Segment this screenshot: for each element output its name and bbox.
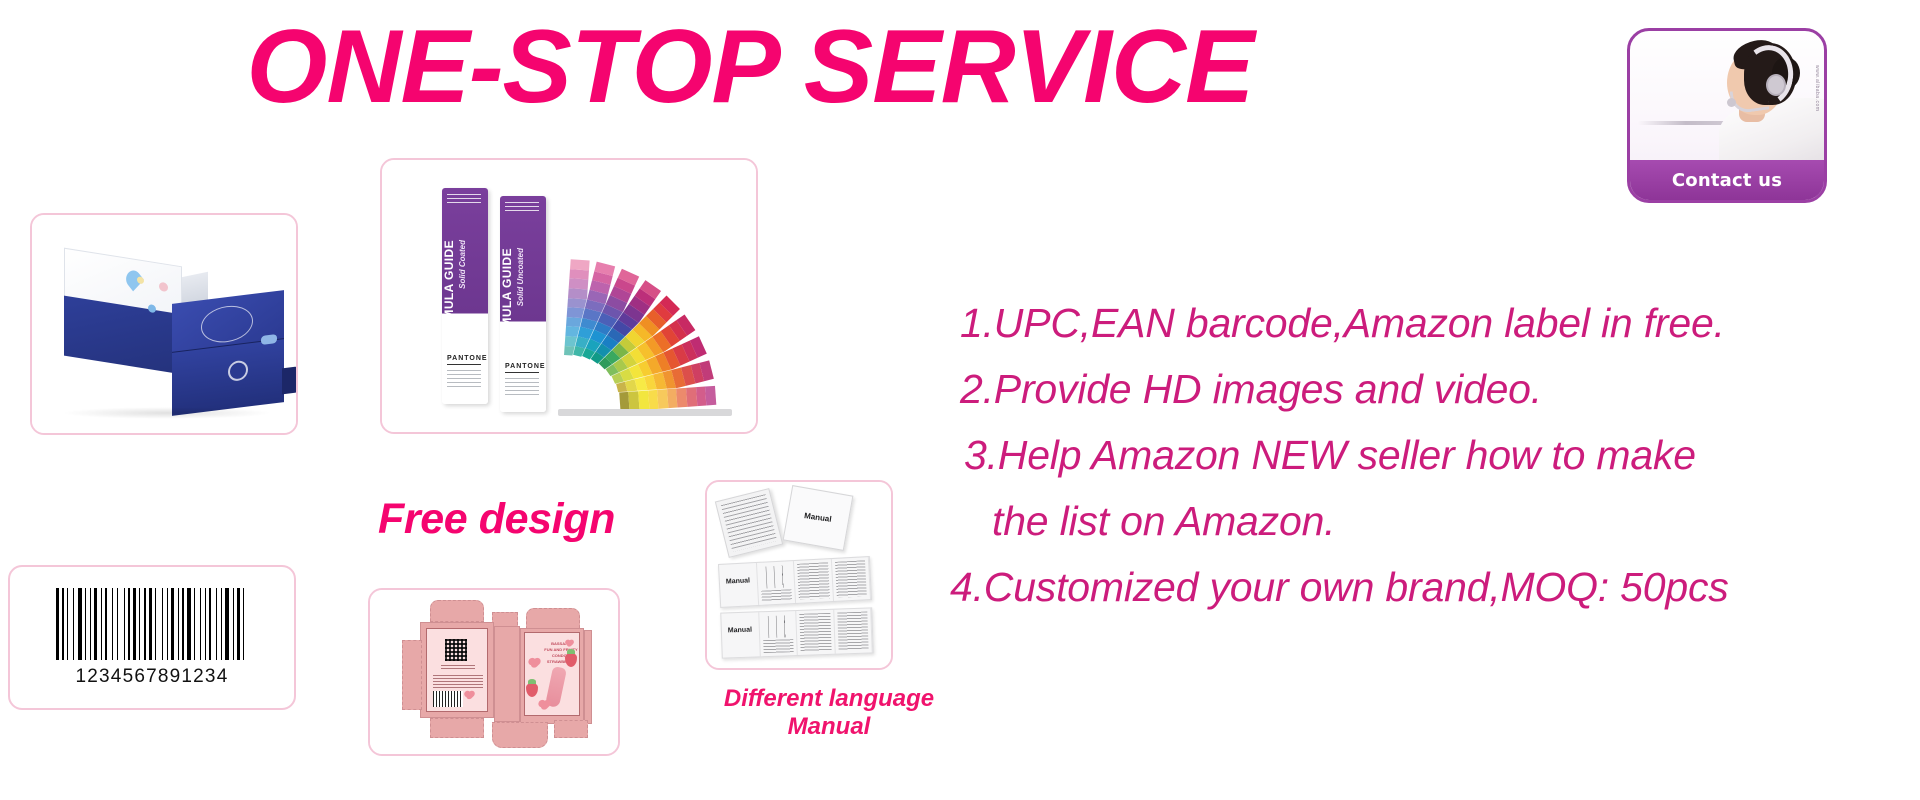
manual-caption-line1: Different language	[724, 685, 934, 712]
pantone-brand-coated: PANTONE	[447, 355, 488, 362]
manual-text-lines	[761, 589, 792, 602]
manual-page	[794, 559, 834, 603]
manual-page	[756, 561, 796, 605]
dieline-top-flap	[430, 600, 484, 622]
manual-folded-2: Manual	[720, 607, 874, 658]
manual-booklet-open	[715, 488, 783, 558]
manual-card: Manual Manual Manual	[705, 480, 893, 670]
manual-diagram	[760, 565, 792, 589]
manual-diagram	[762, 615, 793, 638]
gift-box-image	[32, 215, 296, 433]
gift-box-photo-card	[30, 213, 298, 435]
manual-text-lines	[797, 562, 829, 600]
pantone-guide-card: FORMULA GUIDE Solid Coated PANTONE FORMU…	[380, 158, 758, 434]
deck-sub-uncoated: Solid Uncoated	[516, 248, 525, 306]
poster-canvas: ONE-STOP SERVICE www.alibaba.com Contact…	[0, 0, 1920, 800]
page-title: ONE-STOP SERVICE	[0, 8, 1500, 127]
pantone-color-chip	[568, 288, 588, 299]
dieline-print-front: BASSAANFUN AND FRUITYCONDOMSTRAWBERRY	[524, 632, 580, 716]
headset-mic-tip-icon	[1727, 98, 1736, 107]
pantone-color-chip	[705, 386, 716, 406]
dieline-barcode-icon	[433, 691, 463, 707]
contact-us-button[interactable]: Contact us	[1630, 160, 1824, 200]
manual-text-lines	[835, 560, 867, 598]
strawberry-icon-2	[526, 683, 538, 697]
manual-caption: Different language Manual	[704, 685, 954, 741]
agent-photo: www.alibaba.com	[1630, 31, 1824, 160]
heart-icon-small	[465, 692, 474, 701]
dieline-text-2	[433, 675, 483, 689]
bullet-item-1: 1.UPC,EAN barcode,Amazon label in free.	[960, 290, 1910, 356]
manual-text-lines	[799, 613, 831, 652]
bullet-item-3: 3.Help Amazon NEW seller how to make	[964, 422, 1910, 488]
dieline-product-title: BASSAANFUN AND FRUITYCONDOMSTRAWBERRY	[533, 641, 589, 665]
gift-box-blue	[172, 290, 284, 416]
box-pull-tab	[282, 367, 298, 395]
pantone-fan-image: FORMULA GUIDE Solid Coated PANTONE FORMU…	[382, 160, 756, 432]
heart-icon-1	[529, 659, 539, 669]
manual-fold-label: Manual	[728, 627, 752, 635]
pantone-color-chip	[569, 269, 589, 280]
dieline-panel-side	[494, 626, 520, 722]
deck-header-lines	[505, 202, 539, 211]
box-shadow	[62, 407, 272, 419]
dieline-card: BASSAANFUN AND FRUITYCONDOMSTRAWBERRY	[368, 588, 620, 756]
fan-base-bar	[558, 409, 732, 416]
manual-text-lines	[837, 612, 869, 651]
manual-caption-line2: Manual	[788, 713, 871, 740]
qr-code-icon	[445, 639, 467, 661]
pantone-color-chip	[570, 259, 590, 270]
dieline-image: BASSAANFUN AND FRUITYCONDOMSTRAWBERRY	[370, 590, 618, 754]
bullet-item-2: 2.Provide HD images and video.	[960, 356, 1910, 422]
box-front	[172, 339, 284, 415]
bullet-item-4: 4.Customized your own brand,MOQ: 50pcs	[950, 554, 1910, 620]
barcode-card: 1234567891234	[8, 565, 296, 710]
dieline-sheet: BASSAANFUN AND FRUITYCONDOMSTRAWBERRY	[396, 600, 594, 748]
manual-fold-label: Manual	[726, 577, 750, 585]
dieline-left-wing	[402, 640, 422, 710]
barcode-bars	[56, 588, 248, 660]
pantone-deck-uncoated: FORMULA GUIDE Solid Uncoated PANTONE	[500, 196, 546, 412]
manual-text-lines	[721, 494, 777, 552]
deck-fineprint	[447, 370, 481, 390]
dieline-bottom-flap-3	[554, 720, 588, 738]
deck-fineprint	[505, 378, 539, 398]
manual-page	[834, 608, 873, 653]
free-design-label: Free design	[378, 495, 615, 544]
brand-underline	[505, 372, 539, 373]
heart-icon-2	[539, 701, 549, 711]
manual-page	[831, 557, 871, 601]
manual-image: Manual Manual Manual	[707, 482, 891, 668]
barcode-number: 1234567891234	[76, 666, 229, 688]
headset-earcup-icon	[1766, 74, 1786, 96]
dieline-bottom-flap-1	[430, 718, 484, 738]
manual-booklet-cover: Manual	[783, 485, 854, 551]
watermark-text: www.alibaba.com	[1814, 65, 1820, 111]
deck-sub-coated: Solid Coated	[458, 240, 467, 289]
contact-us-widget[interactable]: www.alibaba.com Contact us	[1627, 28, 1827, 203]
deck-header-lines	[447, 194, 481, 203]
manual-page	[759, 611, 798, 656]
manual-page: Manual	[719, 563, 759, 607]
manual-text-lines	[763, 639, 794, 653]
contact-us-label: Contact us	[1672, 170, 1782, 191]
dieline-top-flap-2	[526, 608, 580, 630]
service-bullet-list: 1.UPC,EAN barcode,Amazon label in free. …	[960, 290, 1910, 620]
gift-box-white	[64, 248, 182, 375]
bullet-item-3-cont: the list on Amazon.	[992, 488, 1910, 554]
manual-page	[796, 610, 835, 655]
manual-folded-1: Manual	[718, 556, 872, 608]
dieline-text-1	[441, 665, 475, 669]
pantone-deck-coated: FORMULA GUIDE Solid Coated PANTONE	[442, 188, 488, 404]
pantone-brand-uncoated: PANTONE	[505, 363, 546, 370]
brand-underline	[447, 364, 481, 365]
pantone-color-chip	[569, 278, 589, 289]
dieline-bottom-flap-2	[492, 722, 548, 748]
manual-page: Manual	[721, 612, 760, 657]
dieline-print-back	[426, 628, 488, 712]
barcode-image: 1234567891234	[10, 567, 294, 708]
manual-cover-label: Manual	[804, 511, 833, 524]
